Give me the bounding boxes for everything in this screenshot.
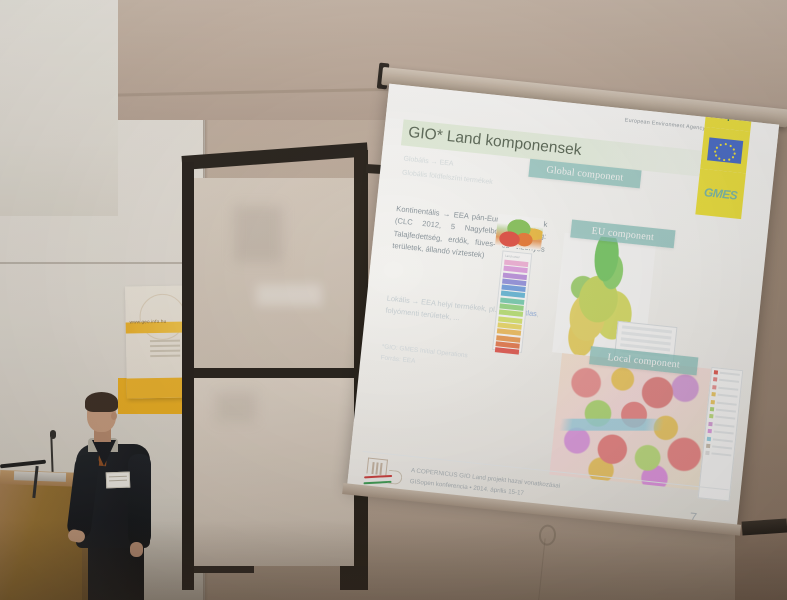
urban-atlas-legend-row-2 [712,385,738,392]
urban-atlas-legend-row-9 [707,436,733,443]
whiteboard-upper-panel[interactable] [194,178,354,368]
poster-swirl-decoration [139,294,186,341]
laptop[interactable] [14,471,66,482]
urban-atlas-legend-row-1 [713,378,739,385]
poster-url-text: www.geo.info.hu [130,319,167,325]
urban-atlas-legend-row-7 [708,422,734,429]
wall-seam [0,262,205,264]
presenter-hair [85,392,118,412]
faded-text-line-2: Globális földfelszíni termékek [402,169,493,185]
urban-atlas-legend-row-8 [708,429,734,436]
slide: European Environment Agency [347,84,779,527]
projection-screen[interactable]: European Environment Agency [347,84,779,527]
fomi-mark [366,457,388,475]
faded-text-line-1: Globális → EEA [403,156,454,168]
global-land-cover-map [495,214,544,251]
white-wall-upper [0,0,118,150]
white-wall-upper-lower [0,146,118,216]
poster-text-lines [150,340,180,360]
urban-atlas-legend-row-10 [706,444,732,451]
gmes-logo: GMES [695,169,746,220]
urban-atlas-legend-row-5 [710,407,736,414]
urban-atlas-legend-row-6 [709,414,735,421]
global-map-legend: Land cover [492,250,532,353]
urban-atlas-river [555,419,705,431]
wall-poster: www.geo.info.hu [125,285,189,398]
floor-shadow [0,520,787,600]
urban-atlas-legend-row-3 [711,392,737,399]
eu-flag-icon [700,127,750,174]
urban-atlas-legend-row-11 [705,451,731,458]
conference-room-photo: www.geo.info.hu European Environment Age… [0,0,787,600]
name-badge [106,472,131,489]
presenter-ear [111,412,117,420]
urban-atlas-legend-row-0 [714,370,740,377]
urban-atlas-legend-row-4 [711,400,737,407]
whiteboard-divider [194,368,354,378]
projection-screen-assembly: European Environment Agency [344,20,787,559]
